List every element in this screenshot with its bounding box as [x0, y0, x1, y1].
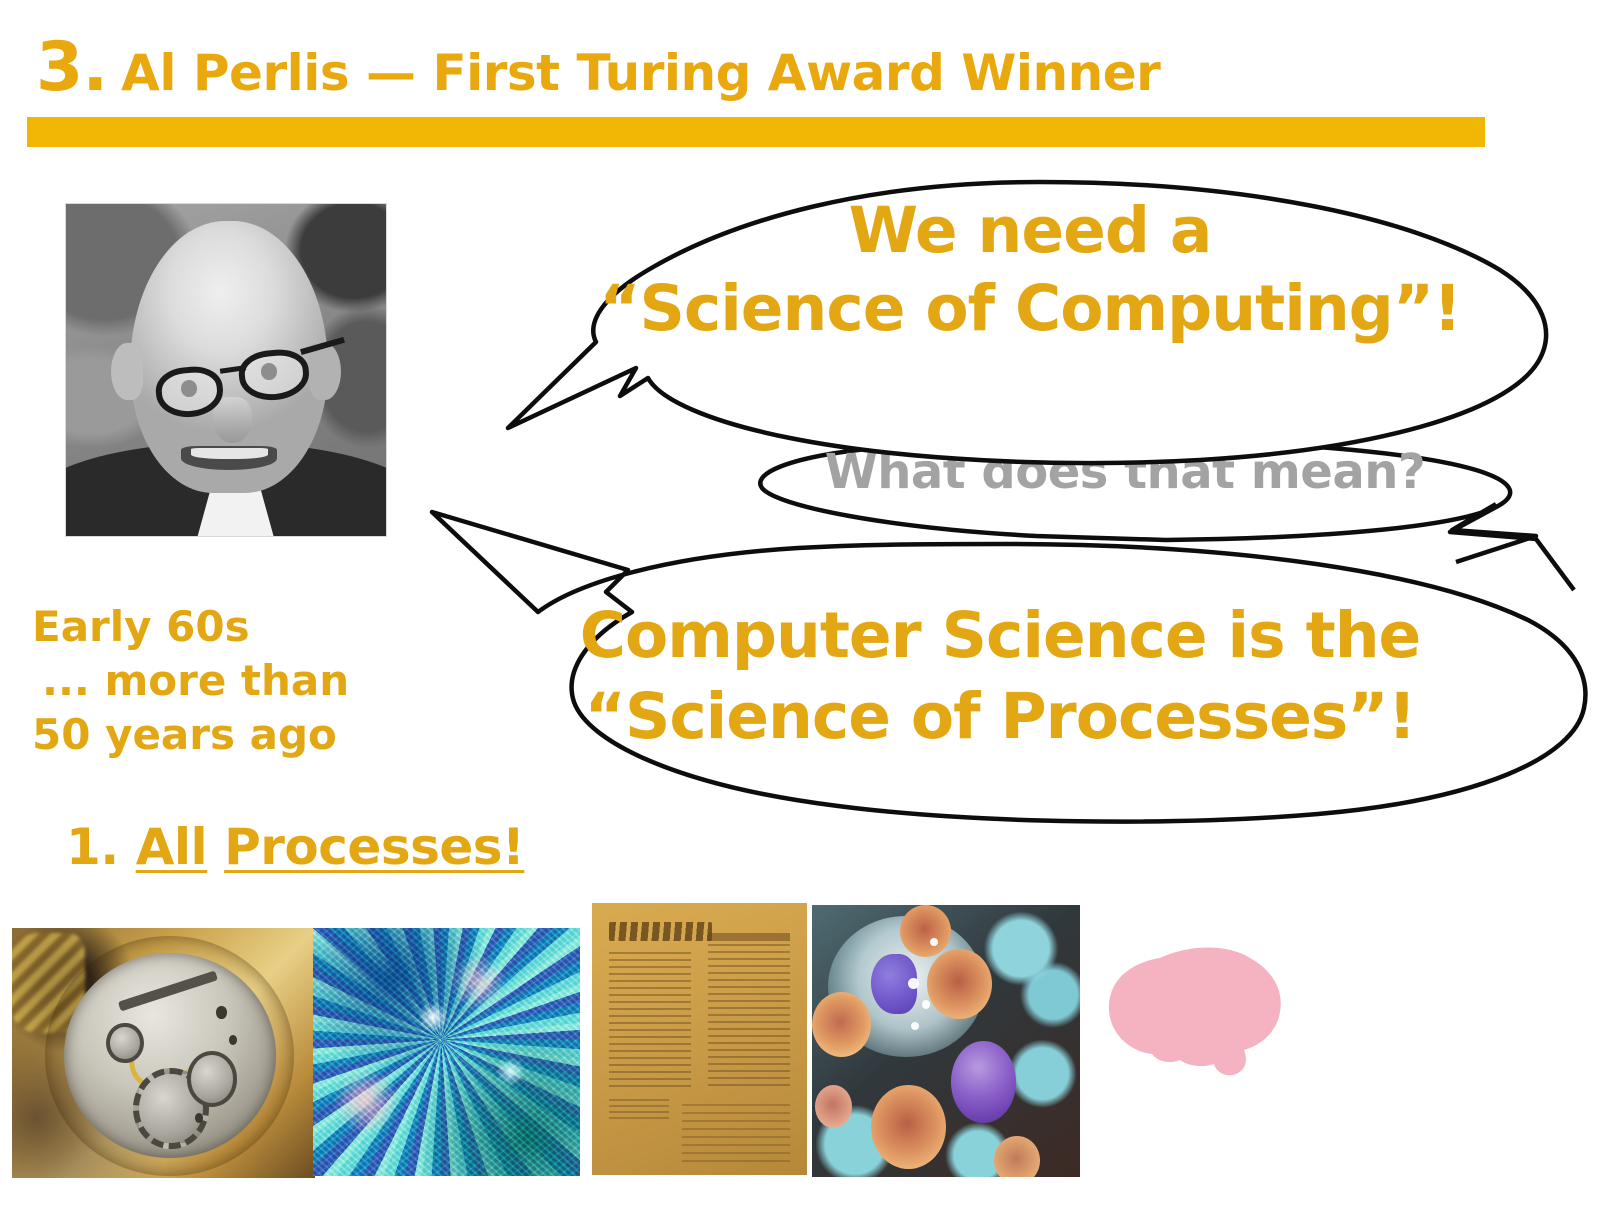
left-caption-line-3: 50 years ago: [32, 708, 412, 762]
watch-jewel-2: [229, 1035, 237, 1045]
speech-bubble-1-shape: [500, 172, 1560, 472]
cell-orange-6: [994, 1136, 1040, 1177]
cell-orange-5: [815, 1085, 853, 1129]
bullet-word-all: All: [136, 818, 207, 876]
network-texture: [313, 928, 580, 1176]
image-network-map: [313, 928, 580, 1176]
document-column-right: [708, 944, 790, 1088]
bullet-word-processes: Processes!: [224, 818, 524, 876]
left-caption-line-2: ... more than: [32, 654, 412, 708]
portrait-photo-al-perlis: [65, 203, 387, 537]
watch-jewel-1: [216, 1006, 227, 1018]
document-column-left: [609, 952, 691, 1088]
cell-orange-4: [900, 905, 951, 957]
watch-dial: [64, 953, 276, 1158]
title-number: 3.: [36, 34, 107, 102]
document-right-heading: [708, 933, 790, 941]
image-pocket-watch: [12, 928, 315, 1178]
document-signatures: [682, 1104, 790, 1164]
cell-orange-1: [812, 992, 871, 1057]
bullet-number: 1.: [66, 818, 119, 876]
watch-gear-small: [106, 1023, 144, 1064]
title-text: Al Perlis — First Turing Award Winner: [121, 48, 1160, 98]
watch-balance-bar: [117, 970, 217, 1011]
cell-nucleus-purple-2: [951, 1041, 1015, 1123]
image-constitution-document: [592, 903, 807, 1175]
image-brain-silhouette: [1100, 940, 1292, 1090]
document-footer-left: [609, 1099, 669, 1121]
cell-speck-4: [930, 938, 938, 946]
cell-orange-2: [927, 949, 991, 1020]
bullet-all-processes: 1. All Processes!: [66, 818, 524, 876]
left-caption-line-1: Early 60s: [32, 600, 412, 654]
page-title: 3. Al Perlis — First Turing Award Winner: [36, 34, 1496, 106]
cell-orange-3: [871, 1085, 946, 1169]
title-underline-bar: [27, 117, 1485, 147]
image-cells-microscopy: [812, 905, 1080, 1177]
left-caption: Early 60s ... more than 50 years ago: [32, 600, 412, 761]
watch-gear-medium: [187, 1051, 237, 1106]
portrait-ear-right: [309, 343, 341, 399]
portrait-nose: [213, 397, 251, 443]
portrait-ear-left: [111, 343, 143, 399]
slide-canvas: 3. Al Perlis — First Turing Award Winner…: [0, 0, 1609, 1210]
portrait-teeth: [191, 448, 268, 459]
document-heading: [609, 922, 712, 941]
